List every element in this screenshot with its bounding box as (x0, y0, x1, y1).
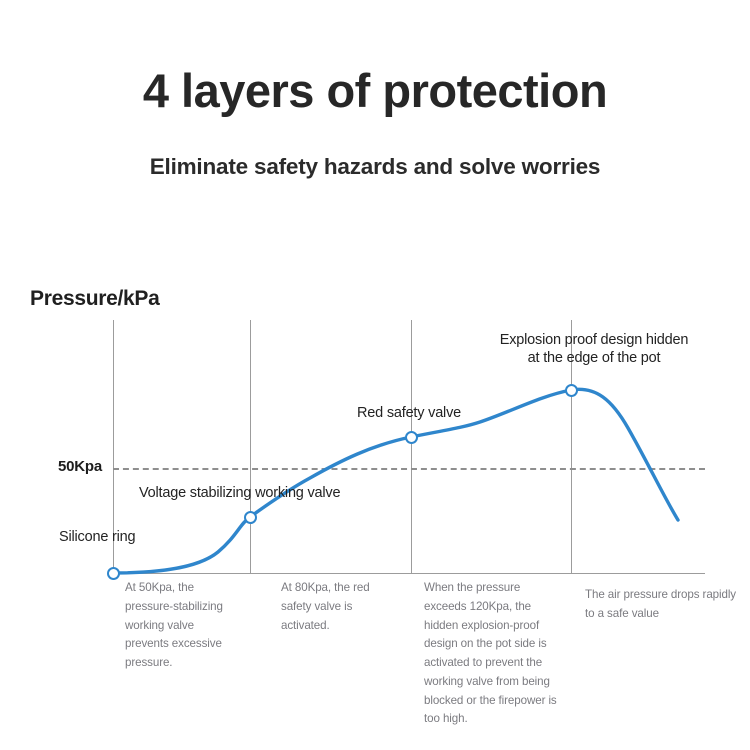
caption-stage-4: The air pressure drops rapidly to a safe… (585, 586, 740, 624)
gridline-2 (250, 320, 251, 574)
data-point-red-safety-valve[interactable] (405, 431, 418, 444)
data-point-working-valve[interactable] (244, 511, 257, 524)
callout-red-safety-valve: Red safety valve (357, 405, 461, 421)
callout-explosion-line-2: at the edge of the pot (528, 350, 661, 366)
callout-silicone-ring: Silicone ring (59, 529, 135, 545)
caption-stage-3: When the pressure exceeds 120Kpa, the hi… (424, 579, 564, 729)
callout-voltage-stabilizing-working-valve: Voltage stabilizing working valve (139, 485, 340, 501)
gridline-3 (411, 320, 412, 574)
x-axis-line (113, 573, 705, 574)
threshold-label: 50Kpa (58, 458, 102, 475)
data-point-explosion-proof[interactable] (565, 384, 578, 397)
y-axis-label: Pressure/kPa (30, 287, 160, 311)
callout-explosion-line-1: Explosion proof design hidden (500, 332, 688, 348)
threshold-line-50kpa (113, 468, 705, 470)
pressure-chart: Pressure/kPa 50Kpa Silicone ring Voltage… (0, 0, 750, 750)
caption-stage-1: At 50Kpa, the pressure-stabilizing worki… (125, 579, 240, 673)
caption-stage-2: At 80Kpa, the red safety valve is activa… (281, 579, 399, 635)
infographic-page: 4 layers of protection Eliminate safety … (0, 0, 750, 750)
data-point-silicone-ring[interactable] (107, 567, 120, 580)
callout-explosion-proof-design: Explosion proof design hidden at the edg… (480, 331, 708, 367)
